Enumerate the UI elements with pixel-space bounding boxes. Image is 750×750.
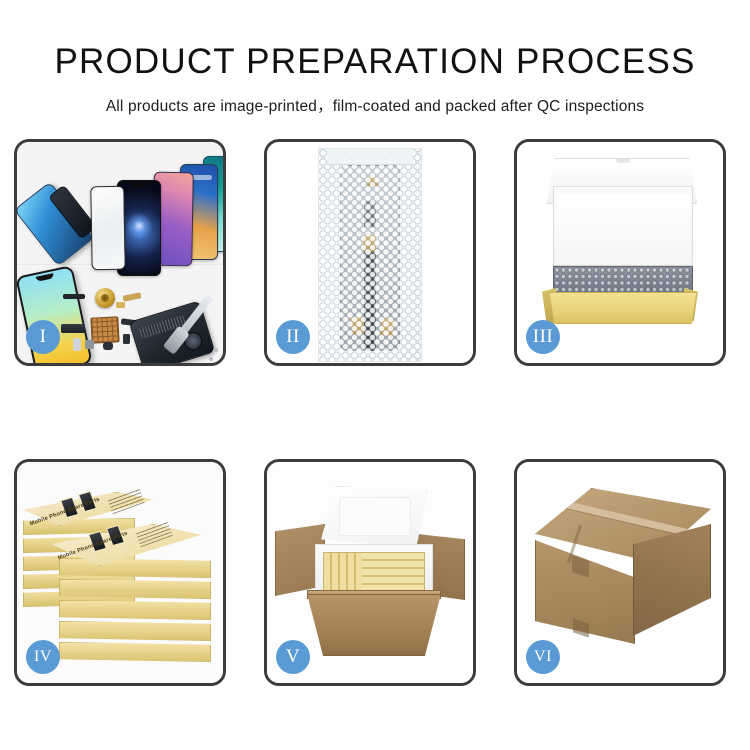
gold-coil-part [95, 288, 115, 308]
carton-front-wall [307, 594, 441, 656]
process-step-grid: I II [14, 139, 736, 686]
step-number-badge: V [276, 640, 310, 674]
box-slab-front-1 [59, 558, 211, 578]
screw-1 [214, 348, 218, 352]
copper-grid-part [90, 316, 119, 343]
step-number-badge: VI [526, 640, 560, 674]
foam-lid [321, 486, 427, 548]
process-step-3: III [514, 139, 726, 366]
step-number-badge: I [26, 320, 60, 354]
box-slab-front-2 [59, 579, 211, 599]
step-number-badge: II [276, 320, 310, 354]
screw-2 [221, 355, 225, 359]
page-title: PRODUCT PREPARATION PROCESS [0, 44, 750, 79]
process-step-2: II [264, 139, 476, 366]
product-preparation-infographic: PRODUCT PREPARATION PROCESS All products… [0, 0, 750, 750]
lid-spec-text-block-back [107, 488, 144, 515]
camera-module-part [61, 324, 85, 333]
box-slab-front-3 [59, 600, 211, 620]
yellow-kraft-box-front [545, 292, 701, 324]
step-number-badge: III [526, 320, 560, 354]
small-part-3 [103, 342, 113, 350]
process-step-4: Mobile Phone Spare Parts Mobile Phone Sp… [14, 459, 226, 686]
small-part-5 [123, 334, 130, 344]
process-step-6: VI [514, 459, 726, 686]
page-subtitle: All products are image-printed，film-coat… [0, 94, 750, 116]
process-step-5: V [264, 459, 476, 686]
small-part-4 [116, 302, 125, 308]
box-slab-front-4 [59, 621, 211, 641]
process-step-1: I [14, 139, 226, 366]
bubble-texture [319, 149, 421, 361]
white-foam-sheet [555, 194, 691, 264]
box-slab-front-5 [59, 642, 211, 662]
header: PRODUCT PREPARATION PROCESS All products… [0, 0, 750, 116]
screw-3 [209, 357, 213, 361]
step-number-badge: IV [26, 640, 60, 674]
gold-boxes-vertical-group [324, 553, 364, 591]
grey-bubble-wrapped-contents [553, 266, 693, 296]
bubble-wrap-bag [318, 148, 422, 362]
screen-protector-glass [90, 186, 125, 271]
gold-boxes-horizontal-group [362, 553, 424, 591]
small-part-1 [73, 338, 81, 351]
small-part-2 [85, 340, 94, 349]
flex-cable-part-1 [63, 294, 85, 299]
bag-seal-top [327, 149, 413, 165]
gold-boxes-inside [323, 552, 425, 592]
